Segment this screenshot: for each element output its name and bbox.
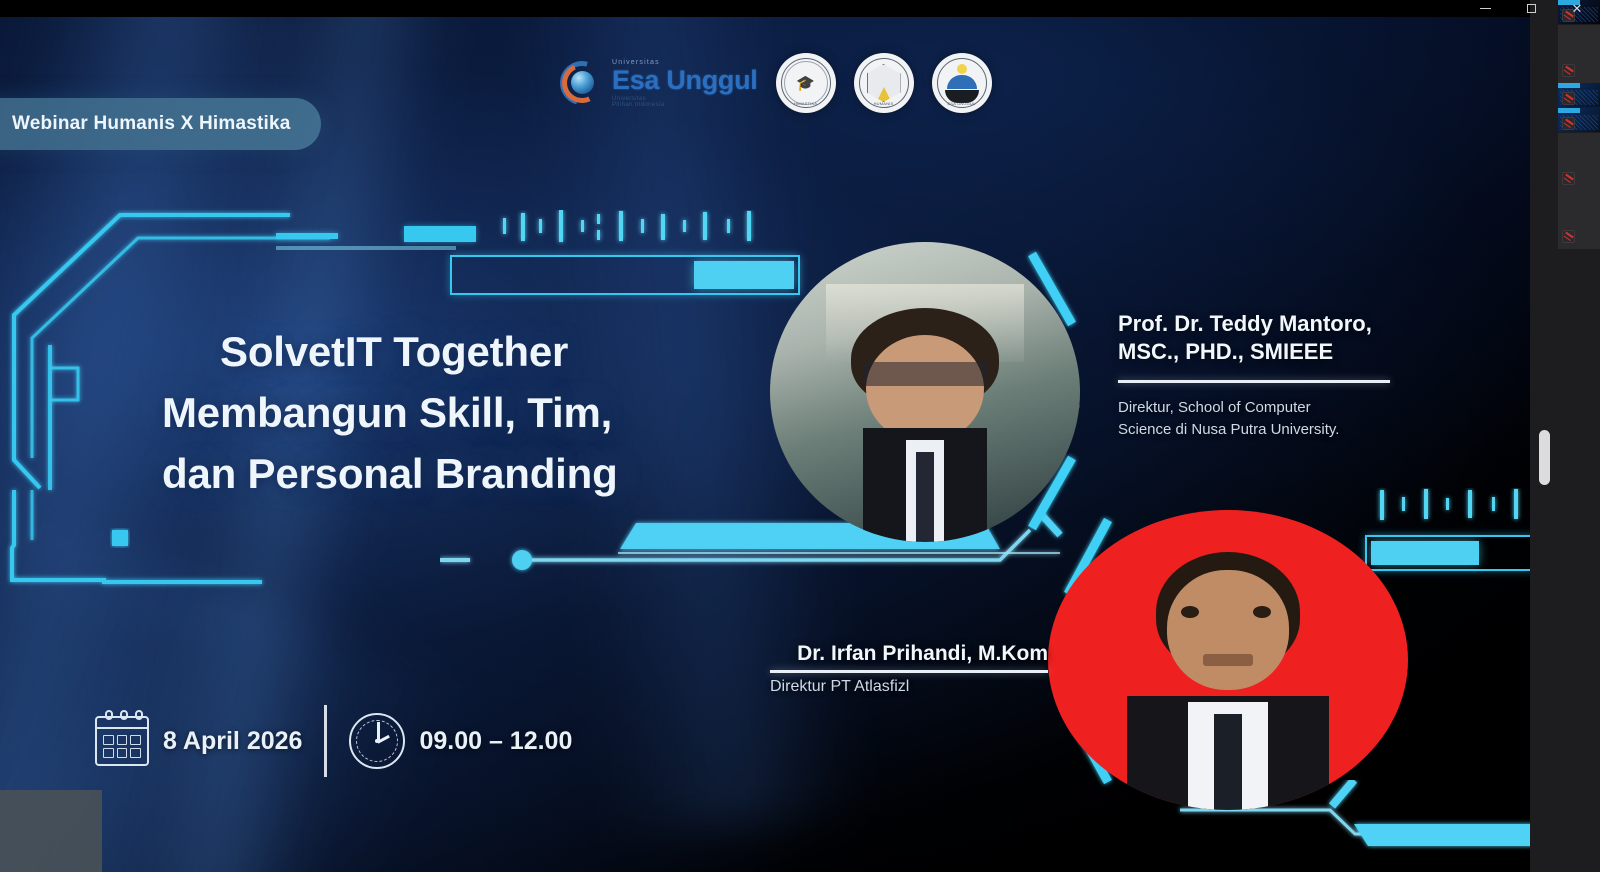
- partner-logo-esa-unggul-seal: ESA UNGGUL: [932, 53, 992, 113]
- speaker-2-name: Dr. Irfan Prihandi, M.Kom: [770, 642, 1048, 666]
- logo-tagline-2: Pilihan Indonesia: [612, 102, 758, 108]
- esa-unggul-logo: Universitas Esa Unggul Universitas Pilih…: [560, 59, 758, 108]
- close-button[interactable]: ✕: [1554, 0, 1600, 17]
- speaker-2-rule: [770, 670, 1048, 673]
- speaker-1-name: Prof. Dr. Teddy Mantoro, MSC., PHD., SMI…: [1118, 310, 1408, 366]
- speaker-2-photo: [1048, 510, 1408, 810]
- speaker-1-rule: [1118, 380, 1390, 383]
- event-time: 09.00 – 12.00: [349, 713, 572, 769]
- slide-thumbnail[interactable]: [1558, 108, 1600, 132]
- hud-block: [404, 226, 476, 242]
- logo-row: Universitas Esa Unggul Universitas Pilih…: [560, 53, 992, 113]
- presentation-slide[interactable]: Webinar Humanis X Himastika Universitas …: [0, 10, 1530, 872]
- speaker-1-photo: [770, 242, 1080, 542]
- partner-logo-himastika: 🎓 HIMASTIKA: [776, 53, 836, 113]
- event-date: 8 April 2026: [95, 716, 302, 766]
- title-line-3: dan Personal Branding: [162, 444, 762, 505]
- speaker-1-role-line-2: Science di Nusa Putra University.: [1118, 421, 1339, 438]
- slide-title: SolvetIT Together Membangun Skill, Tim, …: [162, 322, 762, 505]
- app-root: ✕: [0, 0, 1600, 872]
- panel-scrollbar[interactable]: [1539, 430, 1550, 485]
- hud-progress-bar: [450, 255, 800, 295]
- speaker-2-info: Dr. Irfan Prihandi, M.Kom Direktur PT At…: [770, 642, 1048, 696]
- speaker-1-avatar: [770, 547, 950, 727]
- partner-logo-caption: HUMANIS: [854, 101, 914, 106]
- event-time-text: 09.00 – 12.00: [419, 727, 572, 756]
- window-controls: ✕: [1462, 0, 1600, 17]
- maximize-button[interactable]: [1508, 0, 1554, 17]
- hud-line: [276, 233, 338, 239]
- minimize-button[interactable]: [1462, 0, 1508, 17]
- title-line-2: Membangun Skill, Tim,: [162, 383, 762, 444]
- thumbnail-spacer: [1558, 133, 1600, 191]
- partner-logo-humanis: HUMANIS: [854, 53, 914, 113]
- calendar-icon: [95, 716, 149, 766]
- partner-logo-caption: HIMASTIKA: [776, 101, 836, 106]
- thumbnail-spacer: [1558, 191, 1600, 249]
- speaker-1-role: Direktur, School of Computer Science di …: [1118, 397, 1408, 441]
- pdf-icon: [1562, 230, 1575, 243]
- window-titlebar: [0, 0, 1530, 17]
- hud-tick-row: [495, 210, 795, 254]
- speaker-1-role-line-1: Direktur, School of Computer: [1118, 399, 1311, 416]
- bottom-left-overlay: [0, 790, 102, 872]
- event-meta: 8 April 2026 09.00 – 12.00: [95, 705, 572, 777]
- event-date-text: 8 April 2026: [163, 727, 302, 756]
- event-badge: Webinar Humanis X Himastika: [0, 98, 321, 150]
- meta-divider: [324, 705, 327, 777]
- thumbnail-list: [1558, 0, 1600, 249]
- maximize-icon: [1527, 4, 1536, 13]
- clock-icon: [349, 713, 405, 769]
- pdf-icon: [1562, 92, 1575, 105]
- pdf-icon: [1562, 172, 1575, 185]
- pdf-icon: [1562, 64, 1575, 77]
- thumbnail-spacer: [1558, 25, 1600, 83]
- hud-line: [276, 246, 456, 250]
- pdf-icon: [1562, 117, 1575, 130]
- flame-icon: [877, 87, 891, 101]
- close-icon: ✕: [1572, 2, 1583, 15]
- title-line-1: SolvetIT Together: [162, 322, 762, 383]
- partner-logo-caption: ESA UNGGUL: [932, 101, 992, 106]
- logo-esa-unggul-name: Esa Unggul: [612, 67, 758, 94]
- slide-thumbnail-panel[interactable]: [1530, 0, 1600, 872]
- speaker-1-info: Prof. Dr. Teddy Mantoro, MSC., PHD., SMI…: [1118, 310, 1408, 441]
- slide-thumbnail[interactable]: [1558, 83, 1600, 107]
- speaker-2-avatar: [1048, 815, 1234, 872]
- speaker-1-name-line-2: MSC., PHD., SMIEEE: [1118, 339, 1333, 364]
- speaker-2-role: Direktur PT Atlasfizl: [770, 678, 1048, 696]
- esa-unggul-mark-icon: [560, 61, 604, 105]
- speaker-1-name-line-1: Prof. Dr. Teddy Mantoro,: [1118, 311, 1372, 336]
- minimize-icon: [1480, 8, 1491, 9]
